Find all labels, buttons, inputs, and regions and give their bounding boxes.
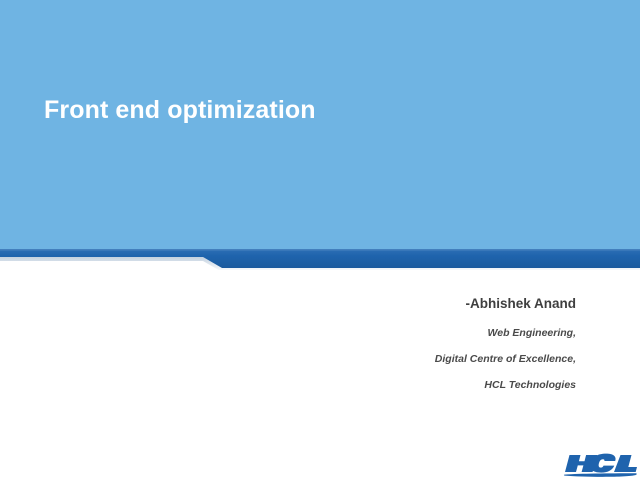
author-name: -Abhishek Anand [435,295,576,312]
credits-block: -Abhishek Anand Web Engineering, Digital… [435,295,576,392]
credits-line-department: Web Engineering, [435,326,576,340]
credits-line-division: Digital Centre of Excellence, [435,352,576,366]
page-title: Front end optimization [44,96,316,124]
hcl-logo [563,452,639,478]
title-slide: Front end optimization -Abhi [0,0,640,480]
accent-band [0,248,640,270]
credits-line-company: HCL Technologies [435,378,576,392]
header-band [0,0,640,249]
